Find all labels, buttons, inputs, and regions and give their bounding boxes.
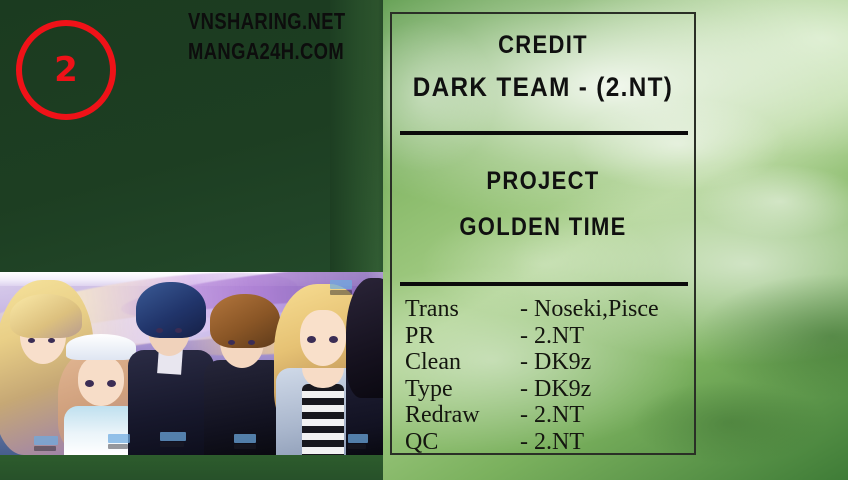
- character-eye-right: [329, 336, 338, 343]
- credit-team-name: DARK TEAM - (2.NT): [407, 70, 679, 104]
- manga-credit-page: 2 VNSHARING.NET MANGA24H.COM: [0, 0, 848, 480]
- credit-row: Type - DK9z: [405, 376, 684, 403]
- project-name: GOLDEN TIME: [410, 212, 676, 242]
- credit-role: QC: [405, 429, 520, 456]
- character-eye-left: [85, 380, 94, 387]
- character-hair: [346, 278, 383, 398]
- background-bottom-strip: [0, 455, 383, 480]
- character-eye-left: [228, 340, 235, 345]
- artwork-watermark-chip: [348, 444, 366, 449]
- group-artwork: [0, 272, 383, 455]
- credit-box-inner: CREDIT DARK TEAM - (2.NT) PROJECT GOLDEN…: [392, 14, 694, 453]
- character-blue-haired-boy: [128, 282, 214, 455]
- artwork-watermark-chip: [34, 436, 58, 445]
- credit-value: - 2.NT: [520, 402, 584, 429]
- character-striped-top: [302, 384, 344, 455]
- artwork-watermark-chip: [234, 434, 256, 443]
- character-eye-left: [28, 338, 35, 343]
- character-eye-left: [307, 336, 316, 343]
- credit-role: Type: [405, 376, 520, 403]
- watermark-block: VNSHARING.NET MANGA24H.COM: [188, 6, 378, 66]
- character-eye-right: [107, 380, 116, 387]
- project-label: PROJECT: [410, 166, 676, 196]
- artwork-watermark-chip: [160, 432, 186, 441]
- divider-top: [400, 131, 688, 135]
- credit-value: - DK9z: [520, 376, 591, 403]
- credit-value: - 2.NT: [520, 323, 584, 350]
- artwork-watermark-chip: [330, 280, 352, 289]
- character-black-haired-girl: [346, 278, 383, 455]
- character-eye-right: [48, 338, 55, 343]
- credit-role: PR: [405, 323, 520, 350]
- artwork-watermark-chip: [348, 434, 368, 443]
- credit-row: Clean - DK9z: [405, 349, 684, 376]
- artwork-watermark-chip: [108, 434, 130, 443]
- watermark-line-vnsharing: VNSHARING.NET: [188, 6, 340, 36]
- credits-list: Trans - Noseki,Pisce PR - 2.NT Clean - D…: [405, 296, 684, 455]
- character-hair: [136, 282, 206, 338]
- character-eye-right: [248, 340, 255, 345]
- credit-role: Redraw: [405, 402, 520, 429]
- artwork-watermark-chip: [330, 290, 352, 295]
- character-hat: [66, 334, 136, 360]
- credit-value: - Noseki,Pisce: [520, 296, 659, 323]
- credit-role: Trans: [405, 296, 520, 323]
- character-hair: [210, 294, 280, 348]
- artwork-watermark-chip: [34, 446, 56, 451]
- artwork-watermark-chip: [234, 444, 256, 449]
- credit-row: PR - 2.NT: [405, 323, 684, 350]
- divider-bottom: [400, 282, 688, 286]
- artwork-watermark-chip: [108, 444, 128, 449]
- project-block: PROJECT GOLDEN TIME: [392, 166, 694, 242]
- credit-role: Clean: [405, 349, 520, 376]
- credit-header: CREDIT DARK TEAM - (2.NT): [392, 30, 694, 104]
- watermark-line-manga24h: MANGA24H.COM: [188, 36, 340, 66]
- credit-row: Trans - Noseki,Pisce: [405, 296, 684, 323]
- credit-box: CREDIT DARK TEAM - (2.NT) PROJECT GOLDEN…: [390, 12, 696, 455]
- character-eye-right: [175, 328, 182, 333]
- artwork-watermark-chip: [160, 442, 184, 447]
- credit-row: QC - 2.NT: [405, 429, 684, 456]
- credit-value: - DK9z: [520, 349, 591, 376]
- page-number-badge: 2: [16, 20, 116, 120]
- credit-row: Redraw - 2.NT: [405, 402, 684, 429]
- credit-value: - 2.NT: [520, 429, 584, 456]
- character-fringe: [10, 294, 82, 338]
- credit-title: CREDIT: [410, 30, 676, 60]
- page-number-value: 2: [54, 53, 78, 87]
- character-eye-left: [156, 328, 163, 333]
